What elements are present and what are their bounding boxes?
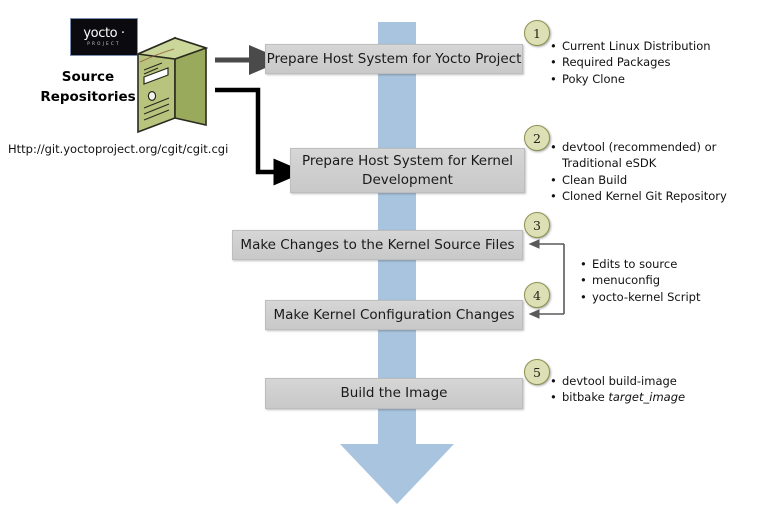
- process-box-step1-label: Prepare Host System for Yocto Project: [267, 50, 522, 68]
- step-badge-2: 2: [524, 125, 550, 151]
- source-label-line2: Repositories: [36, 88, 140, 108]
- notes-step1: Current Linux Distribution Required Pack…: [550, 38, 711, 87]
- notes-step2: devtool (recommended) or Traditional eSD…: [550, 139, 727, 204]
- process-box-step2-label: Prepare Host System for Kernel Developme…: [302, 152, 513, 188]
- process-box-step4-label: Make Kernel Configuration Changes: [273, 306, 514, 324]
- step-badge-3: 3: [524, 212, 550, 238]
- yocto-logo-subtext: PROJECT: [87, 42, 121, 46]
- process-box-step2-line2: Development: [362, 172, 453, 188]
- yocto-project-logo: yocto · PROJECT: [70, 18, 138, 56]
- yocto-logo-wordmark: yocto ·: [83, 27, 124, 40]
- server-tower-icon: [132, 32, 212, 137]
- note-item-command: bitbake: [562, 390, 608, 404]
- note-item: yocto-kernel Script: [580, 289, 701, 305]
- note-item: devtool build-image: [550, 373, 685, 389]
- flow-arrow-head: [340, 444, 454, 504]
- process-box-step5[interactable]: Build the Image: [265, 378, 523, 409]
- source-repositories-label: Source Repositories: [36, 68, 140, 107]
- diagram-canvas: yocto · PROJECT Source Repositories Http…: [0, 0, 769, 517]
- step-badge-4: 4: [524, 282, 550, 308]
- note-item: bitbake target_image: [550, 389, 685, 405]
- process-box-step2[interactable]: Prepare Host System for Kernel Developme…: [290, 148, 525, 193]
- step-badge-1: 1: [524, 20, 550, 46]
- notes-steps-3-4: Edits to source menuconfig yocto-kernel …: [580, 256, 701, 305]
- note-item: Clean Build: [550, 172, 727, 188]
- arrow-source-to-step2: [215, 90, 278, 172]
- note-item-variable: target_image: [608, 390, 685, 404]
- source-repository-url: Http://git.yoctoproject.org/cgit/cgit.cg…: [8, 142, 228, 156]
- note-item: Poky Clone: [550, 71, 711, 87]
- source-label-line1: Source: [36, 68, 140, 88]
- note-item: devtool (recommended) or: [550, 139, 727, 155]
- note-item: Cloned Kernel Git Repository: [550, 188, 727, 204]
- note-item: Required Packages: [550, 54, 711, 70]
- note-item-continuation: Traditional eSDK: [550, 155, 727, 171]
- process-box-step4[interactable]: Make Kernel Configuration Changes: [265, 300, 523, 330]
- process-box-step1[interactable]: Prepare Host System for Yocto Project: [265, 44, 523, 74]
- note-item: menuconfig: [580, 272, 701, 288]
- note-item: Edits to source: [580, 256, 701, 272]
- notes-step5: devtool build-image bitbake target_image: [550, 373, 685, 406]
- step-badge-5: 5: [524, 359, 550, 385]
- note-item: Current Linux Distribution: [550, 38, 711, 54]
- process-box-step3[interactable]: Make Changes to the Kernel Source Files: [232, 230, 523, 260]
- process-box-step5-label: Build the Image: [341, 384, 448, 402]
- process-box-step3-label: Make Changes to the Kernel Source Files: [240, 236, 514, 254]
- process-box-step2-line1: Prepare Host System for Kernel: [302, 153, 513, 169]
